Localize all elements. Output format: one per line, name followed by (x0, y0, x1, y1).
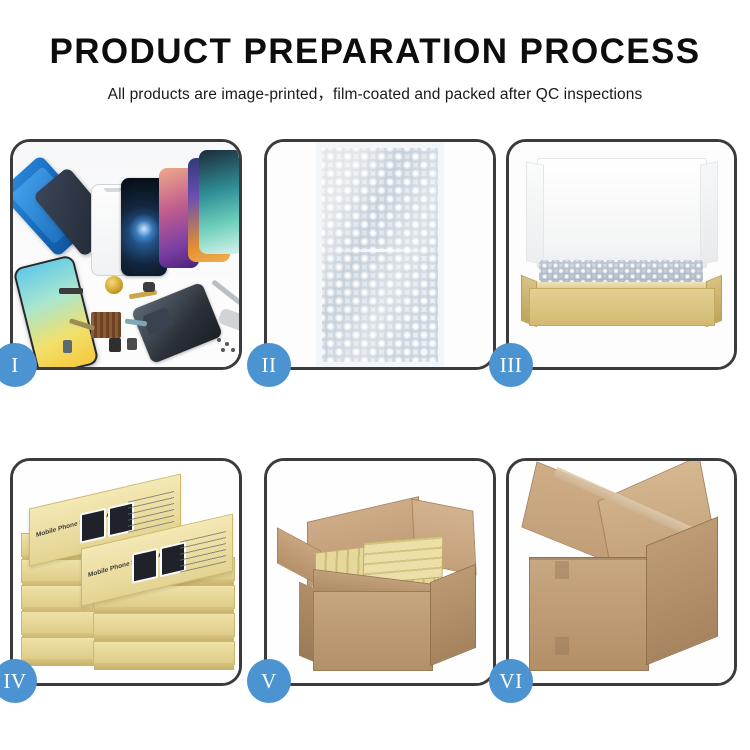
step-panel-2: II (264, 139, 496, 370)
screwdriver-tool (211, 279, 239, 305)
bubble-wrap-scene (267, 142, 493, 367)
stacked-boxes-scene: Mobile Phone Spare Parts Mobile Phone Sp… (13, 461, 239, 683)
carton-tab-bottom (555, 637, 569, 655)
products-scene (13, 142, 239, 367)
step-badge-2: II (247, 343, 291, 387)
carton-front (313, 591, 433, 671)
stacked-box-right-3 (93, 613, 235, 637)
carton-seam (529, 557, 647, 560)
page-subtitle: All products are image-printed，film-coat… (0, 82, 750, 104)
step-1-image (13, 142, 239, 367)
box-spec-lines (180, 528, 226, 573)
carton-front-face (529, 557, 649, 671)
step-badge-5: V (247, 659, 291, 703)
step-panel-6: VI (506, 458, 737, 686)
bubble-wrap-sheet (322, 148, 438, 362)
carton-filling-scene (267, 461, 493, 683)
step-badge-3: III (489, 343, 533, 387)
carton-side-right (430, 564, 476, 667)
step-2-image (267, 142, 493, 367)
box-front-panel (529, 288, 715, 326)
component-1 (109, 338, 121, 352)
step-6-image (509, 461, 734, 683)
step-badge-6: VI (489, 659, 533, 703)
coil-part (105, 276, 123, 294)
step-3-image (509, 142, 734, 367)
box-screen-image-1 (80, 508, 106, 544)
box-edge (94, 663, 234, 670)
step-panel-5: V (264, 458, 496, 686)
camera-module (143, 282, 155, 292)
step-4-image: Mobile Phone Spare Parts Mobile Phone Sp… (13, 461, 239, 683)
step-badge-1: I (0, 343, 37, 387)
component-2 (127, 338, 137, 350)
bar-part (59, 288, 83, 294)
screws (217, 338, 221, 342)
process-steps-grid: I II (0, 139, 750, 689)
step-panel-1: I (10, 139, 242, 370)
page-header: PRODUCT PREPARATION PROCESS All products… (0, 0, 750, 104)
box-lid-open (537, 158, 707, 268)
stacked-box-right-4 (93, 641, 235, 665)
component-3 (63, 340, 72, 353)
step-panel-4: Mobile Phone Spare Parts Mobile Phone Sp… (10, 458, 242, 686)
page-title: PRODUCT PREPARATION PROCESS (0, 34, 750, 71)
step-badge-4: IV (0, 659, 37, 703)
box-stack: Mobile Phone Spare Parts Mobile Phone Sp… (19, 475, 237, 675)
step-panel-3: III (506, 139, 737, 370)
phone-screen-teal (199, 150, 239, 254)
sealed-carton-scene (509, 461, 734, 683)
box-spec-lines (128, 488, 174, 533)
step-5-image (267, 461, 493, 683)
inner-box-scene (509, 142, 734, 367)
box-screen-image-1 (132, 548, 158, 584)
plastic-sheen (322, 148, 438, 362)
carton-tab-top (555, 561, 569, 579)
chip-grid-part (91, 312, 121, 338)
